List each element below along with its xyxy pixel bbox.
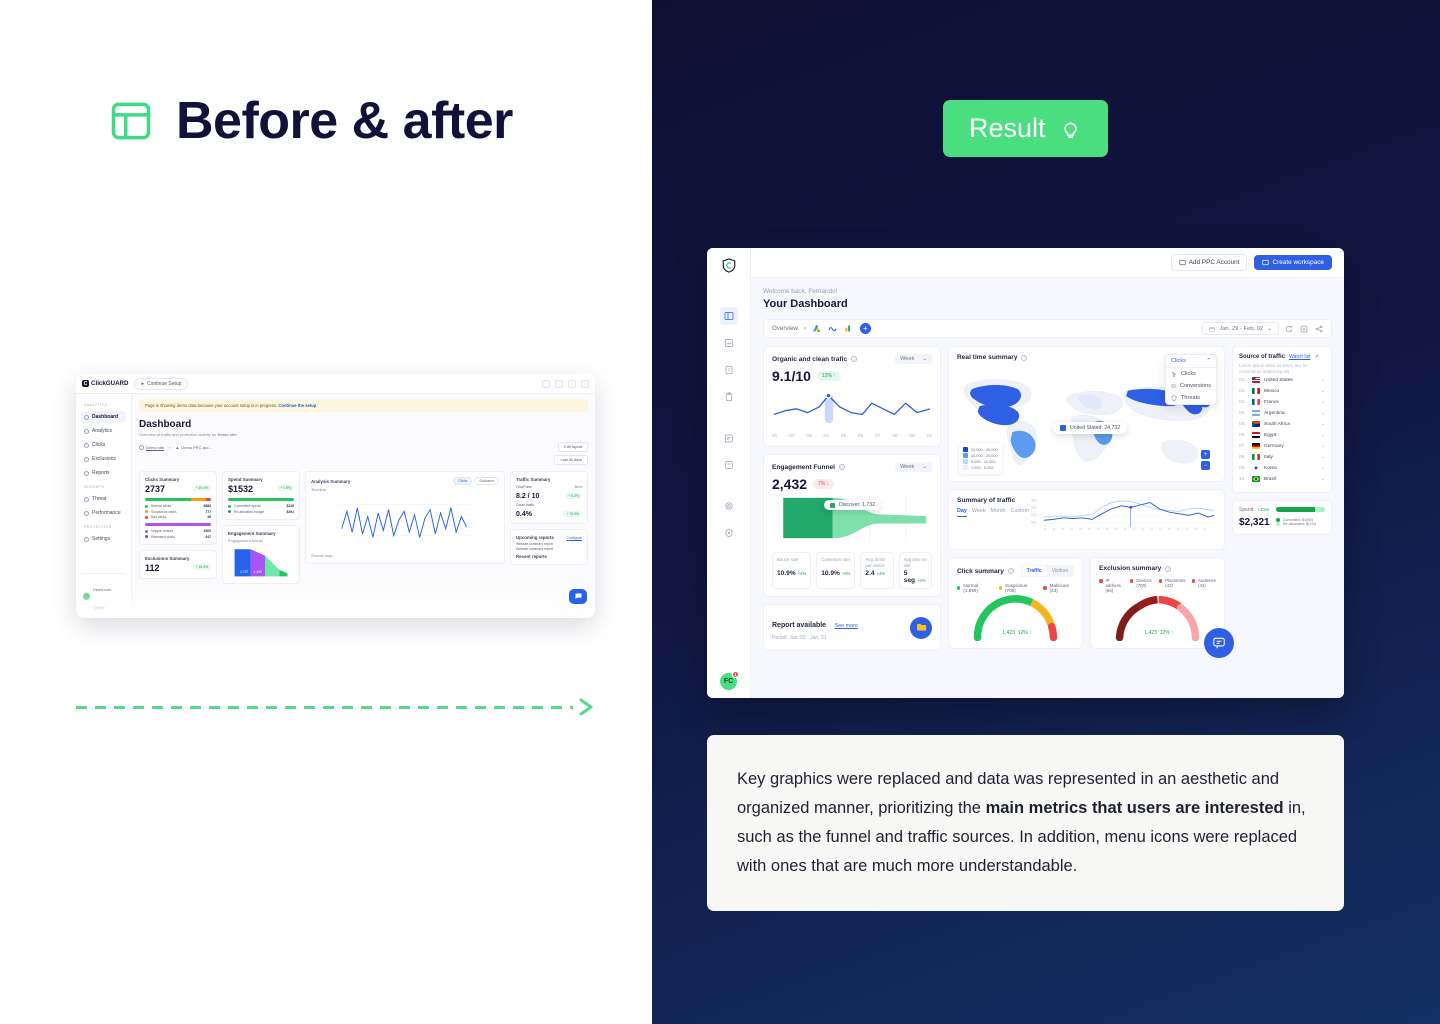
svg-text:02: 02 bbox=[1053, 528, 1056, 531]
before-card-exclusions-summary: Exclusions Summary 112 + 16.4% bbox=[139, 550, 217, 579]
traffic-row: ClickPulse Best bbox=[516, 485, 582, 489]
before-card-analysis-summary: Analysis Summary Clicks Exclusion Timeli… bbox=[305, 471, 505, 564]
sidebar-item-documents[interactable] bbox=[720, 456, 738, 474]
play-icon: ▸ bbox=[141, 381, 144, 387]
clicks-bar-chart bbox=[145, 498, 211, 501]
legend-item-audience: Audience (43) bbox=[1192, 578, 1216, 593]
upcoming-item: Website summary report bbox=[516, 542, 582, 546]
conversions-icon bbox=[1171, 383, 1176, 389]
edit-layout-button[interactable]: Edit layout bbox=[558, 442, 588, 452]
download-icon[interactable] bbox=[1300, 325, 1308, 333]
chat-icon[interactable] bbox=[1204, 628, 1234, 658]
sidebar-item-clipboard[interactable] bbox=[720, 388, 738, 406]
exclusions-icon bbox=[84, 457, 89, 462]
click-summary-toggle: Traffic Visitors bbox=[1021, 565, 1074, 577]
before-brand: C ClickGUARD bbox=[82, 380, 128, 387]
flag-mx bbox=[1252, 388, 1260, 394]
report-title: Report available bbox=[772, 622, 826, 629]
spend-label: Spend bbox=[1239, 507, 1253, 513]
legend-item-normal: Normal (1,899) bbox=[957, 583, 990, 593]
svg-text:300: 300 bbox=[1031, 499, 1037, 503]
visitors-bar-chart bbox=[145, 523, 211, 526]
info-icon[interactable]: i bbox=[1165, 566, 1171, 572]
dashboard-main: Add PPC Account Create workspace Welcome… bbox=[751, 248, 1344, 698]
before-range-button[interactable]: Last 30 days bbox=[554, 455, 588, 465]
svg-text:05: 05 bbox=[1079, 528, 1082, 531]
create-workspace-button[interactable]: Create workspace bbox=[1254, 255, 1332, 270]
exclusion-summary-legend: IP address (66) Devices (700) Placement … bbox=[1099, 578, 1216, 593]
card-source-of-traffic: Source of traffic Watch list ↗ Lorem ips… bbox=[1232, 346, 1332, 493]
chevron-down-icon[interactable]: ⌄ bbox=[1321, 454, 1325, 460]
svg-text:08: 08 bbox=[1106, 528, 1109, 531]
avatar-icon[interactable] bbox=[581, 380, 589, 388]
dropdown-option-clicks[interactable]: Clicks bbox=[1166, 368, 1216, 380]
before-top-actions bbox=[542, 380, 589, 388]
breadcrumb-chevron-icon: › bbox=[804, 325, 806, 332]
toggle-traffic[interactable]: Traffic bbox=[1022, 566, 1047, 576]
svg-text:07: 07 bbox=[1097, 528, 1100, 531]
sidebar-item-dashboard[interactable] bbox=[720, 307, 738, 325]
meta-ads-icon[interactable] bbox=[828, 324, 838, 334]
bell-icon[interactable] bbox=[568, 380, 576, 388]
chevron-down-icon[interactable]: ⌄ bbox=[1321, 399, 1325, 405]
arrow-head-icon bbox=[573, 697, 595, 717]
card-title: Engagement Funnel bbox=[772, 464, 835, 471]
spend-bar bbox=[1276, 507, 1325, 512]
flag-it bbox=[1252, 454, 1260, 460]
transition-arrow bbox=[76, 700, 595, 714]
engagement-funnel-chart: 2,737 1,439 bbox=[228, 546, 294, 578]
source-row[interactable]: 02. Mexico⌄ bbox=[1239, 386, 1325, 397]
before-cards: Clicks Summary 2737 + 29.4% Normal click… bbox=[139, 471, 588, 584]
report-text: Report available See more Period: Jan, 0… bbox=[772, 614, 858, 641]
report-period: Period: Jan, 03 - Jan, 31 bbox=[772, 635, 858, 641]
dashboard-subbar: Overview › + bbox=[763, 319, 1332, 338]
configure-link[interactable]: Configure bbox=[566, 536, 582, 540]
spend-header: Spend +21% bbox=[1239, 507, 1325, 513]
card-title: Organic and clean trafic bbox=[772, 356, 847, 363]
card-engagement-funnel: Engagement Funnel i Week ⌄ 2,432 7 bbox=[763, 454, 941, 597]
svg-text:200: 200 bbox=[1031, 506, 1037, 510]
info-icon[interactable]: i bbox=[1021, 355, 1027, 361]
chevron-down-icon: ⌄ bbox=[1267, 326, 1272, 332]
map-zoom-controls: + − bbox=[1201, 450, 1210, 470]
summary-traffic-left: Summary of traffic Day Week Month Custom bbox=[957, 497, 1023, 542]
after-dashboard: FC 1 Add PPC Account Create workspace bbox=[707, 248, 1344, 698]
legend-item: 20,000 - 40,000 bbox=[963, 447, 998, 452]
avatar-notification-badge: 1 bbox=[732, 671, 739, 678]
dashboard-actions bbox=[1285, 325, 1323, 333]
before-crumb-account[interactable]: ▲ Demo PPC acc... bbox=[175, 445, 212, 450]
sidebar-item-settings[interactable] bbox=[720, 497, 738, 515]
see-more-link[interactable]: See more bbox=[835, 623, 858, 629]
organic-delta: 12% ↑ bbox=[817, 371, 841, 381]
chevron-down-icon[interactable]: ⌄ bbox=[1321, 388, 1325, 394]
chat-icon[interactable] bbox=[569, 589, 587, 604]
before-col-2: Spend Summary $1532 + 1.9% Committed spe… bbox=[222, 471, 300, 584]
organic-value-row: 9.1/10 12% ↑ bbox=[772, 368, 932, 384]
card-click-summary: Click summary i Traffic Visitors Nor bbox=[948, 557, 1083, 649]
analytics-icon bbox=[84, 429, 89, 434]
continue-setup-button[interactable]: ▸ Continue Setup bbox=[134, 378, 188, 390]
breadcrumb[interactable]: Overview bbox=[772, 325, 798, 332]
legend-item-ip-address: IP address (66) bbox=[1099, 578, 1124, 593]
legend-item: Normal clicks6889 bbox=[145, 504, 211, 508]
dashboard-title: Your Dashboard bbox=[763, 298, 1332, 310]
card-summary-of-traffic: Summary of traffic Day Week Month Custom bbox=[948, 489, 1225, 550]
summary-traffic-tabs: Day Week Month Custom bbox=[957, 508, 1023, 517]
svg-text:19: 19 bbox=[1203, 528, 1206, 531]
watch-list-link[interactable]: Watch list bbox=[1289, 354, 1310, 360]
svg-text:18: 18 bbox=[1194, 528, 1197, 531]
legend-item: 5,000 - 10,000 bbox=[963, 459, 998, 464]
result-panel: Result bbox=[652, 0, 1440, 1024]
clicks-icon bbox=[84, 443, 89, 448]
flag-eg bbox=[1252, 432, 1260, 438]
before-card-engagement-summary: Engagement Summary Engagement funnel 2,7… bbox=[222, 525, 300, 584]
legend-item: 1,000 - 5,000 bbox=[963, 465, 998, 470]
date-range-picker[interactable]: Jan, 29 - Feb, 02 ⌄ bbox=[1202, 322, 1279, 335]
dashboard-column-center: Real time summary i Clicks ⌃ bbox=[948, 346, 1225, 651]
upcoming-item: Website summary report bbox=[516, 547, 582, 551]
threats-icon bbox=[1171, 395, 1177, 401]
layout-icon bbox=[110, 100, 152, 142]
caption-box: Key graphics were replaced and data was … bbox=[707, 735, 1344, 911]
spend-value: $2,321 bbox=[1239, 517, 1270, 528]
organic-value: 9.1/10 bbox=[772, 368, 811, 384]
before-screenshot: C ClickGUARD ▸ Continue Setup ANALYTICS bbox=[76, 374, 595, 618]
card-title: Source of traffic bbox=[1239, 354, 1285, 360]
kpi-avg-clicks: Avg clicks per visitor 2.4+4% bbox=[860, 552, 893, 589]
before-col-3: Analysis Summary Clicks Exclusion Timeli… bbox=[305, 471, 505, 584]
before-panel: Before & after C ClickGUARD ▸ Continue S… bbox=[0, 0, 652, 1024]
svg-text:16: 16 bbox=[1177, 528, 1180, 531]
help-icon[interactable] bbox=[542, 380, 550, 388]
analysis-tab-clicks[interactable]: Clicks bbox=[453, 477, 472, 485]
welcome-text: Welcome back, Fernando! bbox=[763, 288, 1332, 295]
before-nav-settings[interactable]: Settings bbox=[81, 533, 126, 545]
info-icon[interactable]: i bbox=[1008, 568, 1014, 574]
legend-item-malicious: Malicious (43) bbox=[1043, 583, 1074, 593]
analysis-timeline-chart bbox=[311, 494, 499, 546]
before-topbar: C ClickGUARD ▸ Continue Setup bbox=[76, 374, 595, 394]
before-card-clicks-summary: Clicks Summary 2737 + 29.4% Normal click… bbox=[139, 471, 217, 545]
card-title: Summary of traffic bbox=[957, 497, 1023, 504]
source-description: Lorem ipsum dolor sit amet, any on conse… bbox=[1239, 363, 1325, 375]
dropdown-selected[interactable]: Clicks ⌃ bbox=[1166, 355, 1216, 368]
dashboard-bottom-row: Click summary i Traffic Visitors Nor bbox=[948, 557, 1225, 649]
chevron-down-icon: ⌄ bbox=[922, 464, 927, 470]
funnel-delta: 7% ↓ bbox=[813, 479, 834, 489]
before-nav-exclusions[interactable]: Exclusions bbox=[81, 453, 126, 465]
before-page-title: Dashboard bbox=[139, 419, 588, 430]
card-title: Real time summary bbox=[957, 354, 1017, 361]
kpi-bounce-rate: Bouce rate 10.9%+4% bbox=[772, 552, 811, 589]
avatar[interactable]: FC 1 bbox=[720, 673, 737, 690]
svg-text:09: 09 bbox=[1115, 528, 1118, 531]
source-row[interactable]: 03. France⌄ bbox=[1239, 397, 1325, 408]
legend-item: Unique visitors1900 bbox=[145, 529, 211, 533]
source-row[interactable]: 01. United States⌄ bbox=[1239, 375, 1325, 386]
before-nav-reports[interactable]: Reports bbox=[81, 467, 126, 479]
dropdown-option-threats[interactable]: Threats bbox=[1166, 392, 1216, 404]
zoom-in-button[interactable]: + bbox=[1201, 450, 1210, 459]
spend-legend: Commited: $1(80) Re-allocated: $(1%) bbox=[1276, 518, 1317, 526]
summary-traffic-chart-wrap: 300200100000 bbox=[1031, 497, 1216, 542]
external-link-icon[interactable]: ↗ bbox=[1315, 354, 1319, 360]
avatar-initials: FC bbox=[724, 678, 733, 685]
tab-month[interactable]: Month bbox=[991, 508, 1006, 517]
organic-axis: 01 02 03 04 05 06 07 08 09 10 bbox=[772, 434, 932, 439]
info-icon[interactable]: i bbox=[851, 356, 857, 362]
site-icon bbox=[139, 445, 144, 450]
before-nav-threat[interactable]: Threat bbox=[81, 493, 126, 505]
flag-br bbox=[1252, 476, 1260, 482]
caption-text: Key graphics were replaced and data was … bbox=[737, 765, 1314, 881]
chevron-down-icon[interactable]: ⌄ bbox=[1321, 443, 1325, 449]
source-row[interactable]: 04. Argentina⌄ bbox=[1239, 408, 1325, 419]
funnel-tooltip-swatch bbox=[830, 503, 835, 508]
source-row[interactable]: 10. Brazil⌄ bbox=[1239, 474, 1325, 485]
svg-text:11: 11 bbox=[1132, 528, 1135, 531]
funnel-kpis: Bouce rate 10.9%+4% Coversion rate 10.9%… bbox=[772, 552, 932, 589]
dashboard-column-left: Organic and clean trafic i Week ⌄ 9.1/10 bbox=[763, 346, 941, 651]
card-header: Engagement Funnel i Week ⌄ bbox=[772, 462, 932, 472]
legend-item: Bad clicks46 bbox=[145, 515, 211, 519]
add-ppc-account-button[interactable]: Add PPC Account bbox=[1171, 254, 1248, 271]
map-tooltip: United Stated: 24,732 bbox=[1053, 422, 1127, 434]
legend-item: Repeated clicks447 bbox=[145, 535, 211, 539]
grid-icon[interactable] bbox=[555, 380, 563, 388]
zoom-out-button[interactable]: − bbox=[1201, 461, 1210, 470]
card-header: Organic and clean trafic i Week ⌄ bbox=[772, 354, 932, 364]
page-title-text: Before & after bbox=[176, 95, 513, 147]
spend-body: $2,321 Commited: $1(80) Re-allocated: $(… bbox=[1239, 517, 1325, 528]
folder-icon bbox=[910, 617, 932, 639]
svg-text:17: 17 bbox=[1185, 528, 1188, 531]
google-ads-icon[interactable] bbox=[812, 324, 822, 334]
calendar-icon bbox=[1209, 326, 1215, 332]
before-fade bbox=[76, 584, 595, 618]
sidebar-item-security[interactable] bbox=[720, 524, 738, 542]
funnel-chart-wrap: Discover: 1,732 bbox=[772, 496, 932, 545]
page-title: Before & after bbox=[110, 95, 513, 147]
summary-traffic-chart: 300200100000 bbox=[1031, 497, 1216, 537]
before-col-1: Clicks Summary 2737 + 29.4% Normal click… bbox=[139, 471, 217, 584]
before-setup-banner: Page is showing demo data because your a… bbox=[139, 399, 588, 412]
result-badge-label: Result bbox=[969, 113, 1046, 144]
analysis-tab-exclusion[interactable]: Exclusion bbox=[474, 477, 499, 485]
tab-day[interactable]: Day bbox=[957, 508, 967, 517]
spend-delta: +21% bbox=[1257, 507, 1269, 512]
flag-us bbox=[1252, 377, 1260, 383]
toggle-visitors[interactable]: Visitors bbox=[1047, 566, 1073, 576]
source-row[interactable]: 05. South Africa⌄ bbox=[1239, 419, 1325, 430]
flag-de bbox=[1252, 443, 1260, 449]
svg-text:06: 06 bbox=[1088, 528, 1091, 531]
add-platform-button[interactable]: + bbox=[860, 323, 871, 334]
period-select-funnel[interactable]: Week ⌄ bbox=[895, 462, 932, 472]
source-row[interactable]: 06. Egypt⌄ bbox=[1239, 430, 1325, 441]
dashboard-topbar: Add PPC Account Create workspace bbox=[751, 248, 1344, 278]
workspace-icon bbox=[1262, 259, 1269, 266]
chevron-down-icon[interactable]: ⌄ bbox=[1321, 377, 1325, 383]
svg-text:03: 03 bbox=[1062, 528, 1065, 531]
click-summary-gauge-wrap: 1,42312% ↑ bbox=[957, 595, 1074, 641]
threat-icon bbox=[84, 497, 89, 502]
before-col-4: Traffic Summary ClickPulse Best 8.2 / 10… bbox=[510, 471, 588, 584]
summary-traffic-body: Summary of traffic Day Week Month Custom bbox=[957, 497, 1216, 542]
map-legend: 20,000 - 40,000 10,000 - 20,000 5,000 - … bbox=[959, 443, 1002, 474]
before-breadcrumb: Demo site › ▲ Demo PPC acc... Edit layou… bbox=[139, 442, 588, 452]
svg-text:100: 100 bbox=[1031, 513, 1037, 517]
legend-item-devices: Devices (700) bbox=[1130, 578, 1153, 593]
before-nav-dashboard[interactable]: Dashboard bbox=[81, 411, 126, 423]
before-page-subtitle: Overview of traffic and protection activ… bbox=[139, 432, 588, 437]
legend-item: 10,000 - 20,000 bbox=[963, 453, 998, 458]
legend-item-suspicious: Suspicious (708) bbox=[999, 583, 1035, 593]
svg-text:13: 13 bbox=[1150, 528, 1153, 531]
before-nav-section-protection: PROTECTION bbox=[84, 525, 126, 529]
organic-line-chart bbox=[772, 386, 932, 426]
kpi-avg-time: Avg time on site 5 seg+4% bbox=[899, 552, 932, 589]
chevron-down-icon[interactable]: ⌄ bbox=[1321, 410, 1325, 416]
chevron-down-icon: ⌄ bbox=[922, 356, 927, 362]
click-summary-legend: Normal (1,899) Suspicious (708) Maliciou… bbox=[957, 583, 1074, 593]
legend-item: Suspicious clicks777 bbox=[145, 510, 211, 514]
tab-custom[interactable]: Custom bbox=[1011, 508, 1030, 517]
svg-text:1,439: 1,439 bbox=[254, 570, 262, 574]
before-banner-link[interactable]: Continue the setup bbox=[278, 403, 316, 408]
traffic-row: Clean traffic bbox=[516, 503, 582, 507]
card-title: Click summary bbox=[957, 568, 1004, 575]
before-nav-clicks[interactable]: Clicks bbox=[81, 439, 126, 451]
card-spend: Spend +21% $2,321 Commited: $1(8 bbox=[1232, 500, 1332, 535]
info-icon[interactable]: i bbox=[839, 464, 845, 470]
arrow-dashes bbox=[76, 706, 573, 709]
period-select-organic[interactable]: Week ⌄ bbox=[895, 354, 932, 364]
chevron-down-icon[interactable]: ⌄ bbox=[1321, 432, 1325, 438]
crumb-sep: › bbox=[169, 445, 170, 450]
svg-text:01: 01 bbox=[1044, 528, 1047, 531]
kpi-conversion-rate: Coversion rate 10.9%+4% bbox=[816, 552, 855, 589]
before-card-upcoming-reports: Upcoming reports Configure Website summa… bbox=[510, 529, 588, 565]
clickguard-mark-icon: C bbox=[82, 380, 89, 387]
svg-text:04: 04 bbox=[1070, 528, 1073, 531]
clicks-icon bbox=[1171, 371, 1177, 377]
card-report-available[interactable]: Report available See more Period: Jan, 0… bbox=[763, 604, 941, 651]
before-nav-section-analytics: ANALYTICS bbox=[84, 403, 126, 407]
add-account-icon bbox=[1179, 259, 1186, 266]
legend-item-reallocated: Re-allocated: $(1%) bbox=[1276, 522, 1317, 526]
before-card-traffic-summary: Traffic Summary ClickPulse Best 8.2 / 10… bbox=[510, 471, 588, 524]
clickguard-shield-icon[interactable] bbox=[722, 258, 736, 273]
sidebar-item-clicks[interactable] bbox=[720, 361, 738, 379]
flag-kr bbox=[1252, 465, 1260, 471]
before-header-actions: Edit layout bbox=[558, 442, 588, 452]
result-badge: Result bbox=[943, 100, 1108, 157]
performance-icon bbox=[84, 511, 89, 516]
refresh-icon[interactable] bbox=[1285, 325, 1293, 333]
source-row[interactable]: 08. Italy⌄ bbox=[1239, 452, 1325, 463]
flag-za bbox=[1252, 421, 1260, 427]
card-exclusion-summary: Exclusion summary i IP address (66) Devi… bbox=[1090, 557, 1225, 649]
chevron-down-icon[interactable]: ⌄ bbox=[1321, 421, 1325, 427]
share-icon[interactable] bbox=[1315, 325, 1323, 333]
flag-ar bbox=[1252, 410, 1260, 416]
card-header: Exclusion summary i bbox=[1099, 565, 1216, 572]
analytics-ads-icon[interactable] bbox=[844, 324, 854, 334]
before-nav-analytics[interactable]: Analytics bbox=[81, 425, 126, 437]
legend-item: Committed spend$226 bbox=[228, 504, 294, 508]
source-row[interactable]: 09. Korea⌄ bbox=[1239, 463, 1325, 474]
chevron-down-icon[interactable]: ⌄ bbox=[1321, 476, 1325, 482]
funnel-tooltip: Discover: 1,732 bbox=[824, 500, 881, 510]
card-title: Exclusion summary bbox=[1099, 565, 1161, 572]
svg-text:10: 10 bbox=[1124, 528, 1127, 531]
card-organic-traffic: Organic and clean trafic i Week ⌄ 9.1/10 bbox=[763, 346, 941, 447]
svg-text:000: 000 bbox=[1031, 520, 1037, 524]
dashboard-grid: Organic and clean trafic i Week ⌄ 9.1/10 bbox=[763, 346, 1332, 651]
tab-week[interactable]: Week bbox=[972, 508, 986, 517]
funnel-value-row: 2,432 7% ↓ bbox=[772, 476, 932, 492]
svg-text:2,737: 2,737 bbox=[240, 570, 248, 574]
exclusion-summary-value: 1,42312% ↑ bbox=[1099, 622, 1216, 637]
svg-text:15: 15 bbox=[1168, 528, 1171, 531]
card-header: Click summary i Traffic Visitors bbox=[957, 565, 1074, 577]
dashboard-sidebar: FC 1 bbox=[707, 248, 751, 698]
dashboard-column-right: Source of traffic Watch list ↗ Lorem ips… bbox=[1232, 346, 1332, 651]
card-header: Source of traffic Watch list ↗ bbox=[1239, 354, 1325, 360]
page-root: Before & after C ClickGUARD ▸ Continue S… bbox=[0, 0, 1440, 1024]
spend-bar-chart bbox=[228, 498, 294, 501]
before-crumb-site[interactable]: Demo site bbox=[139, 445, 164, 450]
svg-text:14: 14 bbox=[1159, 528, 1162, 531]
click-summary-value: 1,42312% ↑ bbox=[957, 622, 1074, 637]
dashboard-content: Welcome back, Fernando! Your Dashboard O… bbox=[751, 278, 1344, 698]
sidebar-item-analytics[interactable] bbox=[720, 334, 738, 352]
svg-text:12: 12 bbox=[1141, 528, 1144, 531]
settings-icon bbox=[84, 537, 89, 542]
legend-item-placement: Placement (43) bbox=[1159, 578, 1186, 593]
dropdown-option-conversions[interactable]: Conversions bbox=[1166, 380, 1216, 392]
source-row[interactable]: 07. Germany⌄ bbox=[1239, 441, 1325, 452]
dashboard-icon bbox=[84, 415, 89, 420]
card-realtime-summary: Real time summary i Clicks ⌃ bbox=[948, 346, 1225, 482]
legend-item: Re-allocated budget$392 bbox=[228, 510, 294, 514]
before-nav-section-insights: INSIGHTS bbox=[84, 485, 126, 489]
flag-fr bbox=[1252, 399, 1260, 405]
map-tooltip-swatch bbox=[1060, 425, 1066, 431]
chevron-down-icon[interactable]: ⌄ bbox=[1321, 465, 1325, 471]
sidebar-item-reports[interactable] bbox=[720, 429, 738, 447]
before-nav-performance[interactable]: Performance bbox=[81, 507, 126, 519]
lightbulb-icon bbox=[1059, 117, 1082, 140]
google-ads-icon: ▲ bbox=[175, 445, 179, 450]
reports-icon bbox=[84, 471, 89, 476]
realtime-metric-dropdown[interactable]: Clicks ⌃ Clicks Conver bbox=[1165, 354, 1217, 405]
before-card-spend-summary: Spend Summary $1532 + 1.9% Committed spe… bbox=[222, 471, 300, 520]
funnel-value: 2,432 bbox=[772, 476, 807, 492]
exclusion-summary-gauge-wrap: 1,42312% ↑ bbox=[1099, 595, 1216, 641]
chevron-up-icon: ⌃ bbox=[1206, 358, 1211, 364]
